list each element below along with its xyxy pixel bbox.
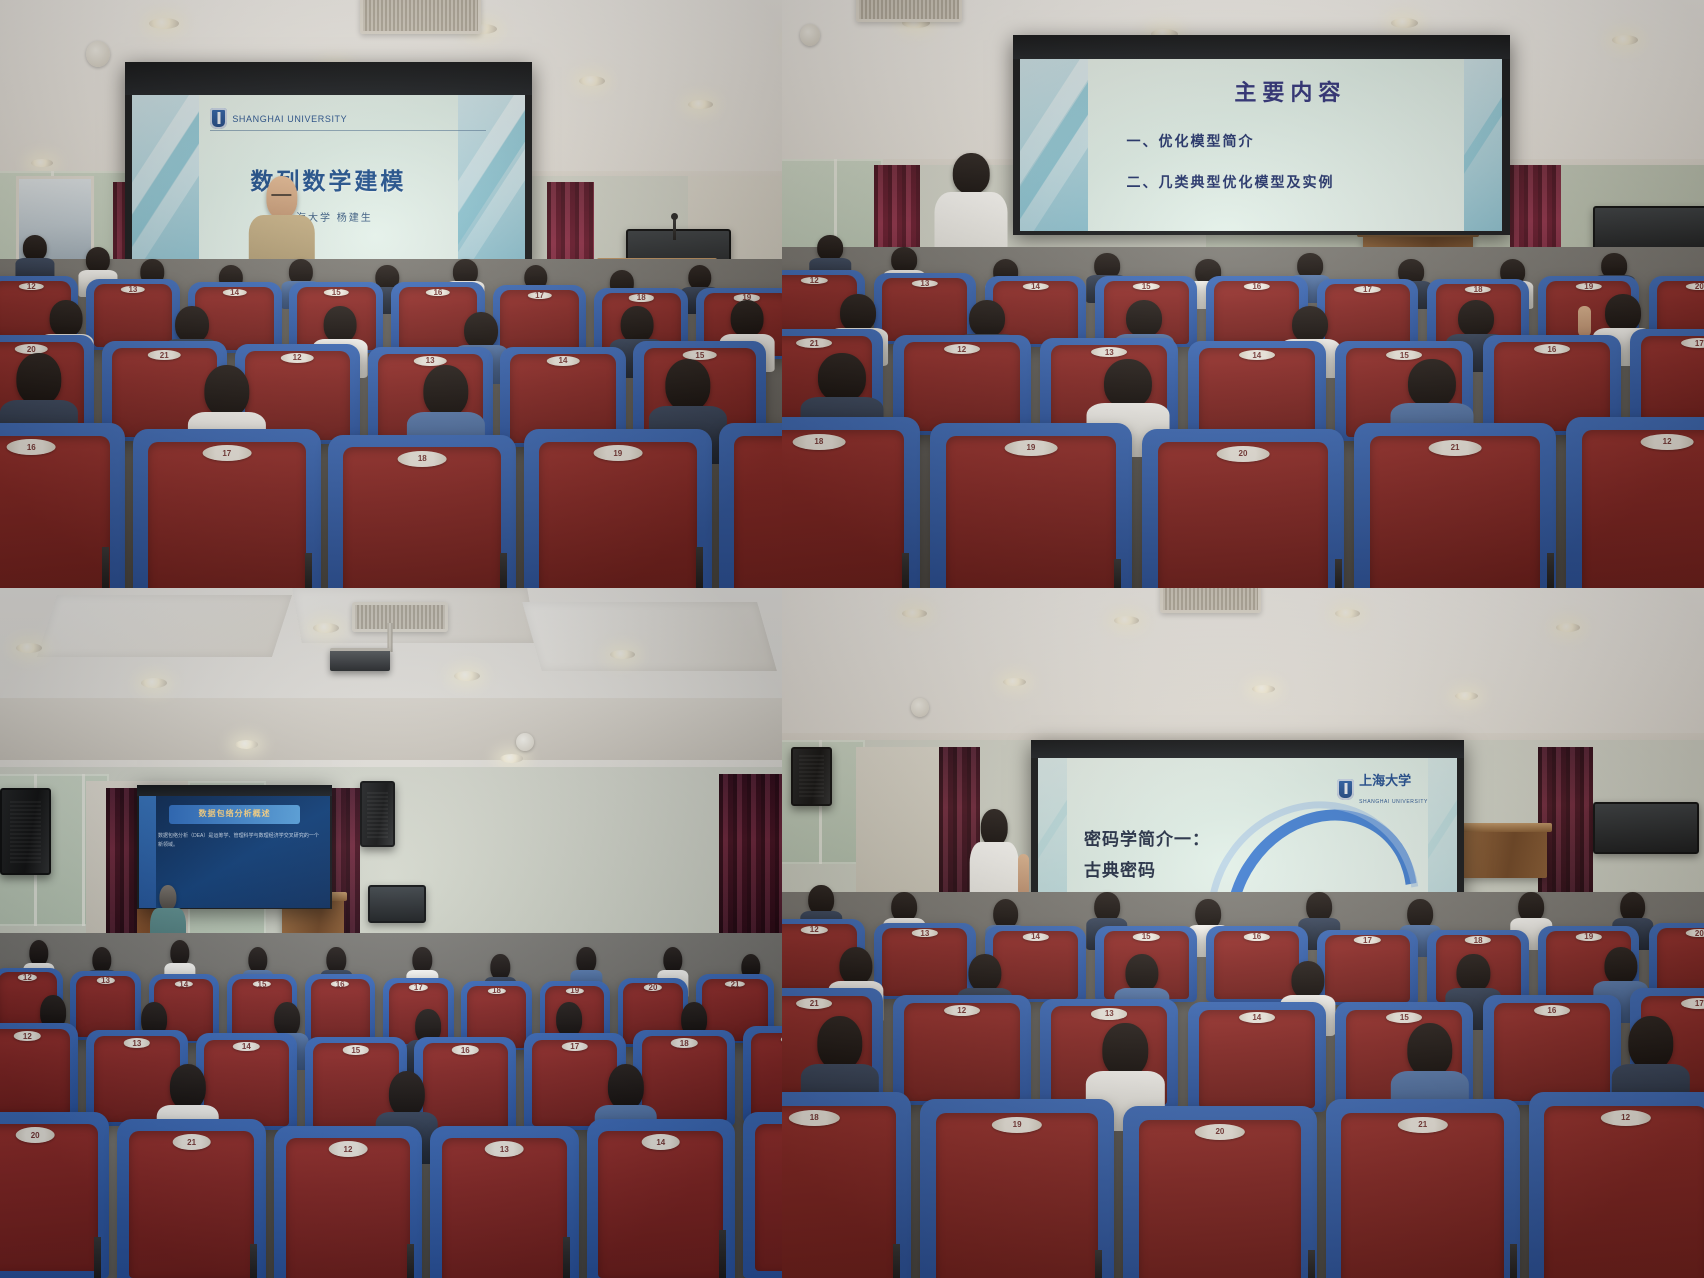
auditorium-seat[interactable]: 15: [743, 1112, 782, 1278]
raised-hand-icon: [1578, 306, 1591, 337]
slide-title-banner-3: 数据包络分析概述: [169, 805, 299, 824]
auditorium-seat[interactable]: 17: [1630, 329, 1704, 429]
seat-number-label: 20: [1195, 1124, 1245, 1140]
seat-number-label: 13: [124, 1038, 150, 1048]
seat-number-label: 17: [409, 984, 427, 991]
seat-number-label: 18: [398, 451, 447, 467]
seat-leg: [1308, 1250, 1315, 1278]
seat-leg: [500, 553, 507, 588]
collage-panel-top-right[interactable]: 主要内容 一、优化模型简介 二、几类典型优化模型及实例: [782, 0, 1704, 588]
seat-number-label: 14: [175, 981, 193, 988]
ceiling-coffer: [37, 595, 292, 657]
seat-number-label: 12: [1600, 1110, 1650, 1126]
collage-panel-top-left[interactable]: SHANGHAI UNIVERSITY 数列数学建模 上海大学 杨建生: [0, 0, 782, 588]
downlight-icon: [1455, 692, 1478, 700]
slide-title-line2-4: 古典密码: [1084, 860, 1156, 883]
smoke-detector-icon: [86, 41, 110, 67]
seat-leg: [1095, 1250, 1102, 1278]
auditorium-seat[interactable]: 14: [1188, 341, 1326, 441]
presenter-arm: [1018, 854, 1029, 896]
slide-title-2: 主要内容: [1078, 75, 1502, 107]
downlight-icon: [235, 740, 258, 749]
wall-speaker-icon: [0, 788, 51, 875]
auditorium-seat[interactable]: 20: [719, 423, 782, 588]
downlight-icon: [1114, 616, 1139, 625]
seat-number-label: 19: [593, 445, 642, 461]
slide-banner-title-3: 数据包络分析概述: [169, 808, 299, 819]
seat-number-label: 19: [566, 988, 584, 995]
seat-number-label: 16: [1534, 344, 1570, 354]
projector-body: [330, 648, 390, 670]
presenter-head: [160, 885, 177, 910]
downlight-icon: [1391, 18, 1418, 28]
seat-number-label: 19: [992, 1117, 1042, 1133]
seat-number-label: 21: [172, 1134, 211, 1150]
seat-number-label: 15: [253, 981, 271, 988]
ceiling-projector: [360, 623, 420, 671]
wall-speaker-icon: [791, 747, 832, 806]
presenter-head: [981, 809, 1008, 846]
seat-number-label: 17: [1354, 936, 1380, 944]
seat-leg: [1335, 559, 1342, 588]
seat-number-label: 21: [1398, 1117, 1448, 1133]
seat-number-label: 13: [1091, 347, 1127, 357]
seat-number-label: 14: [547, 356, 580, 366]
slide-header-rule: [210, 130, 486, 131]
seat-number-label: 12: [329, 1141, 368, 1157]
auditorium-seat[interactable]: 12: [1566, 417, 1704, 588]
logo-text-en: SHANGHAI UNIVERSITY: [1359, 799, 1428, 805]
ac-vent-icon: [1160, 588, 1261, 613]
seat-number-label: 15: [343, 1045, 369, 1055]
seat-number-label: 13: [96, 977, 114, 984]
seat-leg: [1114, 559, 1121, 588]
audience-member: [16, 235, 55, 282]
presenter-head: [266, 176, 297, 218]
seat-leg: [1510, 1244, 1517, 1278]
auditorium-seat[interactable]: 19: [920, 1099, 1114, 1278]
downlight-icon: [902, 609, 927, 618]
auditorium-seat[interactable]: 12: [274, 1126, 423, 1278]
seat-number-label: 13: [1091, 1008, 1127, 1019]
seat-number-label: 18: [793, 434, 846, 450]
collage-panel-bottom-right[interactable]: 上海大学 SHANGHAI UNIVERSITY 密码学简介一： 古典密码 上海…: [782, 588, 1704, 1278]
downlight-icon: [1556, 623, 1580, 632]
photo-collage: SHANGHAI UNIVERSITY 数列数学建模 上海大学 杨建生: [0, 0, 1704, 1278]
seat-leg: [305, 553, 312, 588]
ac-vent-icon: [360, 0, 481, 34]
podium-top: [1450, 823, 1551, 832]
av-monitor-3: [368, 885, 427, 924]
logo-text-cn: 上海大学: [1359, 773, 1411, 788]
seat-leg: [902, 553, 909, 588]
glasses-icon: [271, 194, 291, 204]
presenter-head: [953, 153, 990, 194]
screen-top-bar: [1013, 35, 1511, 59]
seat-leg: [893, 1244, 900, 1278]
auditorium-seat[interactable]: 18: [328, 435, 516, 588]
ac-vent-icon: [856, 0, 962, 22]
seat-number-label: 21: [148, 350, 181, 360]
screen-top-bar: [1031, 740, 1464, 758]
slide-subtitle-1: 上海大学 杨建生: [132, 209, 526, 224]
seat-number-label: 16: [1244, 933, 1270, 941]
seat-leg: [102, 547, 109, 588]
seat-number-label: 14: [1239, 1012, 1275, 1023]
downlight-icon: [313, 623, 339, 633]
auditorium-seat[interactable]: 21: [117, 1119, 266, 1278]
seat-number-label: 19: [1005, 440, 1058, 456]
seat-leg: [719, 1230, 726, 1278]
seat-number-label: 12: [944, 1005, 980, 1016]
seat-number-label: 12: [1641, 434, 1694, 450]
downlight-icon: [1335, 609, 1360, 618]
seat-number-label: 14: [1239, 350, 1275, 360]
seat-number-label: 12: [801, 926, 827, 934]
auditorium-seat[interactable]: 18: [782, 417, 920, 588]
auditorium-seat[interactable]: 14: [1188, 1002, 1326, 1112]
seat-number-label: 19: [1576, 933, 1602, 941]
seat-number-label: 18: [789, 1110, 839, 1126]
seat-number-label: 14: [641, 1134, 680, 1150]
seat-number-label: 20: [644, 984, 662, 991]
seat-number-label: 20: [16, 1127, 55, 1143]
seat-number-label: 14: [233, 1042, 259, 1052]
seat-number-label: 16: [7, 439, 56, 455]
microphone-icon: [673, 218, 676, 240]
auditorium-seat[interactable]: 16: [1483, 995, 1621, 1105]
downlight-icon: [31, 159, 53, 167]
downlight-icon: [1003, 678, 1026, 686]
auditorium-seat[interactable]: 12: [0, 1023, 78, 1120]
smoke-detector-icon: [516, 733, 534, 751]
seat-number-label: 18: [487, 988, 505, 995]
seat-number-label: 21: [796, 338, 832, 348]
screen-top-bar: [125, 62, 532, 95]
auditorium-seat[interactable]: 20: [1649, 923, 1704, 999]
collage-panel-bottom-left[interactable]: 数据包络分析概述 数据包络分析（DEA）是运筹学、管理科学与数理经济学交叉研究的…: [0, 588, 782, 1278]
ceiling-coffer: [522, 602, 776, 671]
seat-number-label: 12: [944, 344, 980, 354]
auditorium-seat[interactable]: 19: [743, 1026, 782, 1123]
university-crest-icon: [1337, 779, 1354, 800]
downlight-icon: [688, 100, 713, 109]
downlight-icon: [454, 671, 480, 681]
seat-leg: [94, 1237, 101, 1278]
downlight-icon: [500, 754, 523, 763]
slide-university-logo-1: SHANGHAI UNIVERSITY: [210, 108, 347, 129]
smoke-detector-icon: [800, 24, 820, 46]
seat-number-label: 15: [1133, 933, 1159, 941]
stage-curtain-left-3: [106, 788, 137, 940]
stage-curtain-far-right-3: [719, 774, 782, 940]
slide-title-1: 数列数学建模: [132, 162, 526, 196]
projection-screen-1: SHANGHAI UNIVERSITY 数列数学建模 上海大学 杨建生: [125, 62, 532, 268]
seat-leg: [407, 1244, 414, 1278]
seat-number-label: 16: [1534, 1005, 1570, 1016]
auditorium-seat[interactable]: 19: [524, 429, 712, 588]
seat-leg: [250, 1244, 257, 1278]
auditorium-seat[interactable]: 19: [930, 423, 1133, 588]
auditorium-seat[interactable]: 20: [1123, 1106, 1317, 1278]
seat-leg: [1547, 553, 1554, 588]
seat-number-label: 21: [1429, 440, 1482, 456]
downlight-icon: [16, 643, 42, 653]
wall-column-4: [856, 747, 948, 899]
seat-number-label: 17: [562, 1042, 588, 1052]
seat-number-label: 14: [1022, 933, 1048, 941]
auditorium-seat[interactable]: 20: [1142, 429, 1345, 588]
seat-number-label: 16: [331, 981, 349, 988]
auditorium-seat[interactable]: 12: [893, 995, 1031, 1105]
seat-number-label: 18: [1465, 936, 1491, 944]
auditorium-seat[interactable]: 13: [430, 1126, 579, 1278]
seat-number-label: 13: [485, 1141, 524, 1157]
logo-text: SHANGHAI UNIVERSITY: [232, 114, 347, 124]
university-crest-icon: [210, 108, 227, 129]
slide-title-line1-4: 密码学简介一：: [1084, 829, 1210, 852]
seat-number-label: 18: [671, 1038, 697, 1048]
seat-leg: [563, 1237, 570, 1278]
downlight-icon: [1252, 685, 1275, 693]
slide-item-1: 一、优化模型简介: [1126, 131, 1254, 151]
seat-number-label: 20: [1217, 446, 1270, 462]
seat-number-label: 15: [1386, 1012, 1422, 1023]
auditorium-seat[interactable]: 17: [133, 429, 321, 588]
lecture-hall-scene-2: 主要内容 一、优化模型简介 二、几类典型优化模型及实例: [782, 0, 1704, 588]
auditorium-seat[interactable]: 21: [1326, 1099, 1520, 1278]
seat-number-label: 16: [452, 1045, 478, 1055]
projection-screen-2: 主要内容 一、优化模型简介 二、几类典型优化模型及实例: [1013, 35, 1511, 235]
seat-number-label: 13: [912, 929, 938, 937]
av-monitor-4: [1593, 802, 1698, 854]
seat-number-label: 12: [18, 974, 36, 981]
auditorium-seat[interactable]: 21: [1354, 423, 1557, 588]
auditorium-seat[interactable]: 12: [1529, 1092, 1704, 1278]
slide-2: 主要内容 一、优化模型简介 二、几类典型优化模型及实例: [1020, 59, 1502, 231]
lecture-hall-scene-4: 上海大学 SHANGHAI UNIVERSITY 密码学简介一： 古典密码 上海…: [782, 588, 1704, 1278]
slide-body-3: 数据包络分析（DEA）是运筹学、管理科学与数理经济学交叉研究的一个新领域。: [158, 832, 319, 851]
downlight-icon: [141, 678, 167, 688]
lecture-hall-scene-1: SHANGHAI UNIVERSITY 数列数学建模 上海大学 杨建生: [0, 0, 782, 588]
seat-number-label: 12: [281, 353, 314, 363]
seat-leg: [696, 547, 703, 588]
seat-number-label: 12: [14, 1031, 40, 1041]
slide-item-2: 二、几类典型优化模型及实例: [1126, 172, 1334, 192]
auditorium-seat[interactable]: 16: [305, 974, 375, 1043]
podium-4: [1455, 830, 1547, 878]
screen-top-bar: [137, 785, 333, 796]
ceiling-band-3: [0, 698, 782, 760]
slide-1: SHANGHAI UNIVERSITY 数列数学建模 上海大学 杨建生: [132, 95, 526, 263]
seat-number-label: 21: [725, 981, 745, 988]
auditorium-seat[interactable]: 14: [587, 1119, 736, 1278]
wall-speaker-icon: [360, 781, 395, 847]
downlight-icon: [149, 18, 179, 29]
seat-number-label: 20: [1686, 929, 1704, 937]
slide-university-logo-4: 上海大学 SHANGHAI UNIVERSITY: [1337, 770, 1428, 808]
seat-number-label: 17: [202, 445, 251, 461]
seat-number-label: 21: [796, 998, 832, 1009]
lecture-hall-scene-3: 数据包络分析概述 数据包络分析（DEA）是运筹学、管理科学与数理经济学交叉研究的…: [0, 588, 782, 1278]
